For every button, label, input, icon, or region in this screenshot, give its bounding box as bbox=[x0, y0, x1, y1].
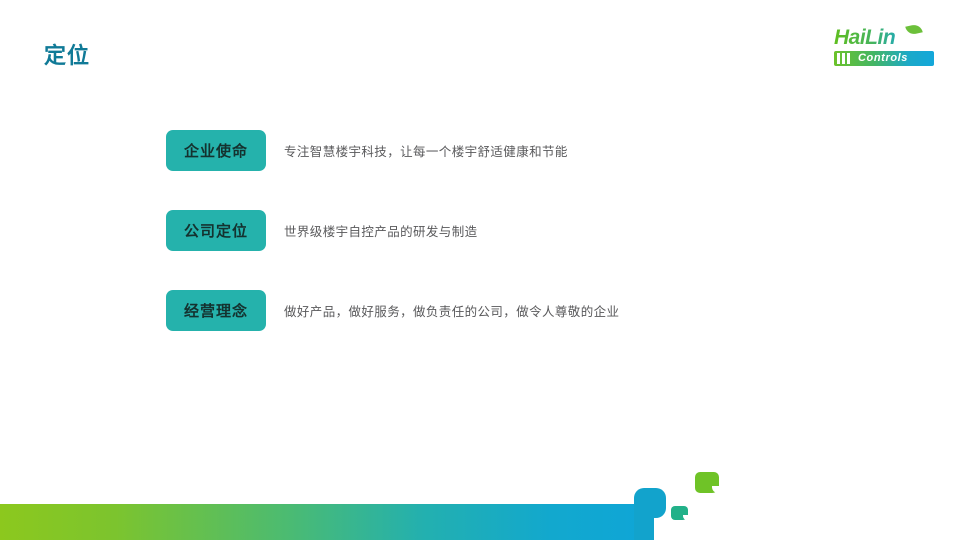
list-item: 公司定位 世界级楼宇自控产品的研发与制造 bbox=[166, 210, 866, 252]
page-title: 定位 bbox=[44, 42, 90, 70]
list-item: 经营理念 做好产品，做好服务，做负责任的公司，做令人尊敬的企业 bbox=[166, 290, 866, 332]
statement-text-mission: 专注智慧楼宇科技，让每一个楼宇舒适健康和节能 bbox=[284, 130, 568, 171]
statement-badge-positioning: 公司定位 bbox=[166, 210, 266, 251]
decoration-cyan-square bbox=[634, 488, 666, 518]
statement-badge-philosophy: 经营理念 bbox=[166, 290, 266, 331]
decoration-green-square bbox=[695, 472, 719, 493]
list-item: 企业使命 专注智慧楼宇科技，让每一个楼宇舒适健康和节能 bbox=[166, 130, 866, 172]
bars-icon bbox=[837, 53, 855, 64]
statement-badge-mission: 企业使命 bbox=[166, 130, 266, 171]
brand-logo: HaiLin Controls bbox=[834, 26, 934, 70]
statement-list: 企业使命 专注智慧楼宇科技，让每一个楼宇舒适健康和节能 公司定位 世界级楼宇自控… bbox=[166, 130, 866, 370]
slide-canvas: 定位 HaiLin Controls 企业使命 专注智慧楼宇科技，让每一个楼宇舒… bbox=[0, 0, 960, 540]
footer-gradient-bar bbox=[0, 504, 641, 540]
decoration-teal-square bbox=[671, 506, 688, 520]
statement-text-positioning: 世界级楼宇自控产品的研发与制造 bbox=[284, 210, 478, 251]
logo-tagline: Controls bbox=[858, 51, 908, 66]
statement-text-philosophy: 做好产品，做好服务，做负责任的公司，做令人尊敬的企业 bbox=[284, 290, 619, 331]
